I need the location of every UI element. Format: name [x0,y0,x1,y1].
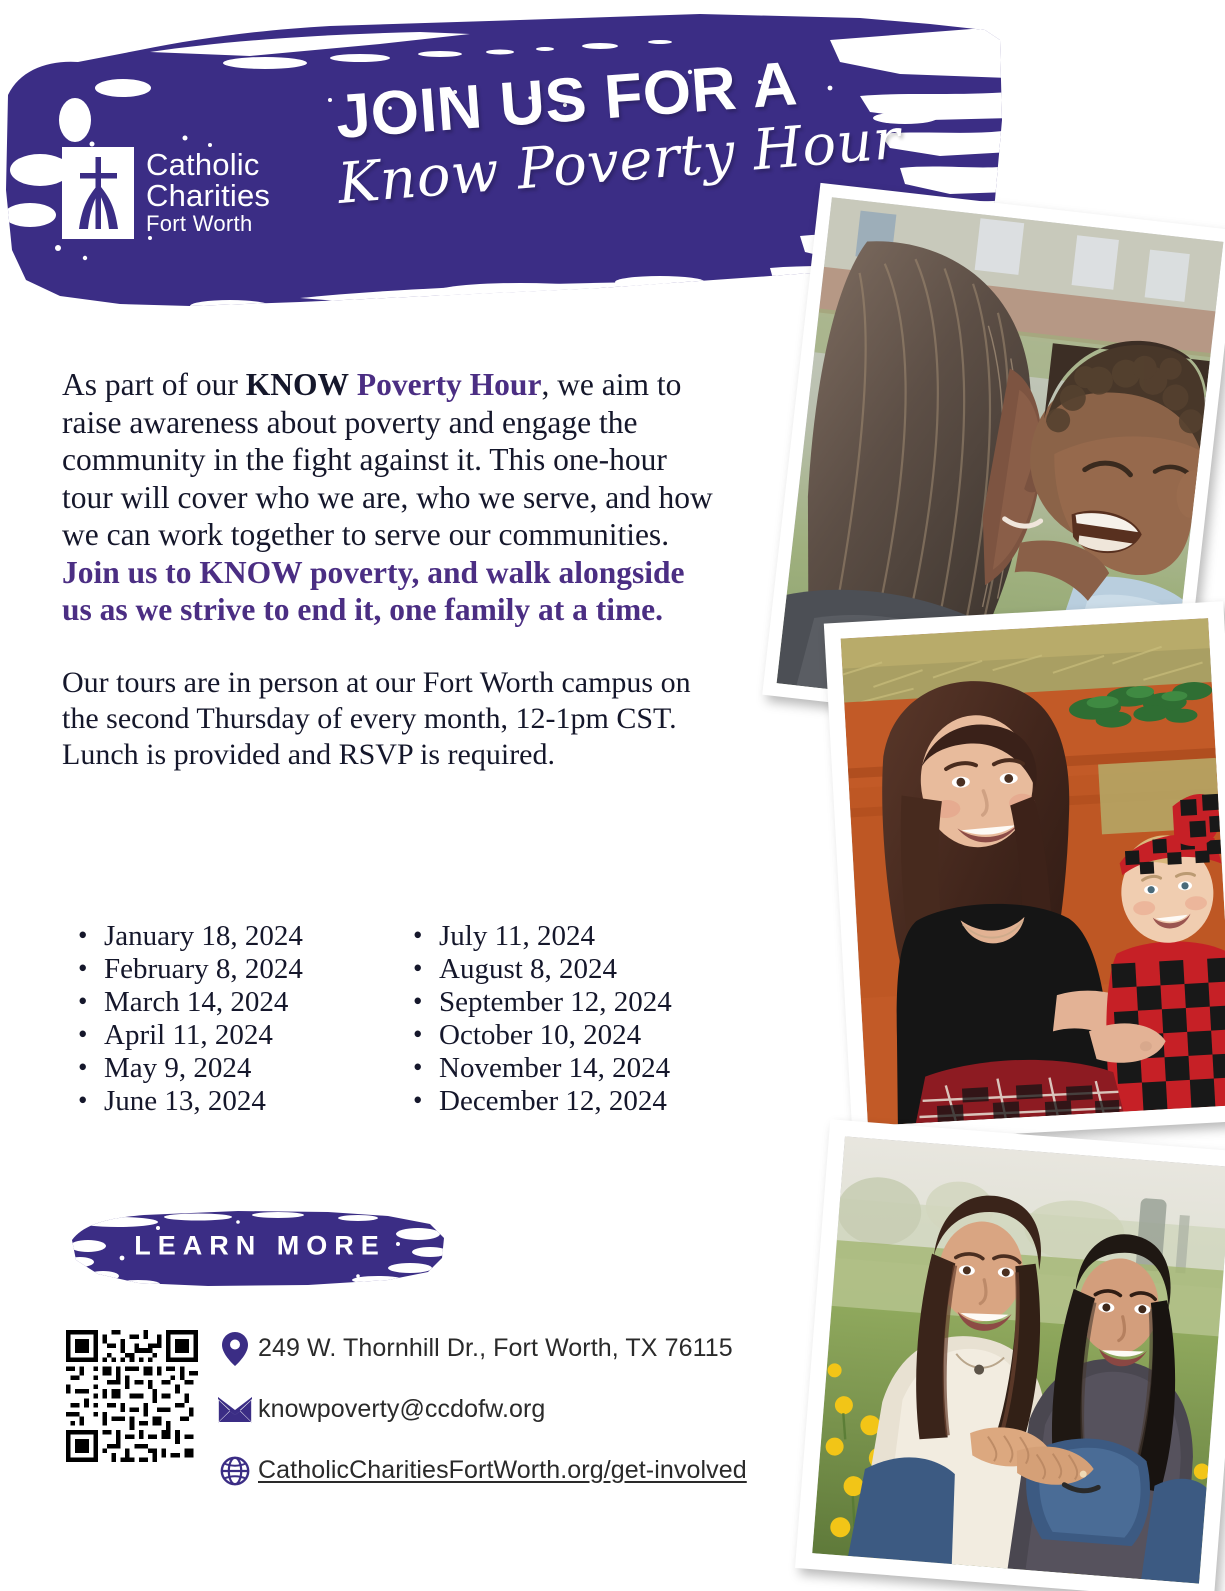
intro-call-to-action: Join us to KNOW poverty, and walk alongs… [62,555,685,628]
qr-code[interactable] [66,1330,198,1462]
learn-more-label: LEARN MORE [58,1231,458,1262]
list-item: March 14, 2024 [100,986,403,1019]
list-item: August 8, 2024 [435,953,738,986]
photo-mother-and-toddler-image [841,618,1225,1126]
intro-poverty-hour: Poverty Hour [357,367,542,402]
intro-know-bold: KNOW [246,367,349,402]
location-pin-icon [212,1332,258,1366]
intro-space [349,367,357,402]
learn-more-button[interactable]: LEARN MORE [58,1198,458,1294]
photo-mother-and-toddler [824,601,1225,1143]
list-item: July 11, 2024 [435,920,738,953]
contact-row-address: 249 W. Thornhill Dr., Fort Worth, TX 761… [212,1322,812,1375]
list-item: December 12, 2024 [435,1085,738,1118]
body-copy: As part of our KNOW Poverty Hour, we aim… [62,366,722,773]
globe-icon [212,1456,258,1486]
intro-seg-1: As part of our [62,367,246,402]
logo-line-1: Catholic [146,150,270,180]
logo-line-3: Fort Worth [146,213,270,235]
contact-info: 249 W. Thornhill Dr., Fort Worth, TX 761… [212,1322,812,1505]
envelope-icon [212,1397,258,1423]
cross-and-hands-icon [62,147,134,239]
logo-wordmark: Catholic Charities Fort Worth [146,150,270,234]
logo-line-2: Charities [146,181,270,211]
contact-row-website[interactable]: CatholicCharitiesFortWorth.org/get-invol… [212,1444,812,1497]
list-item: February 8, 2024 [100,953,403,986]
address-text: 249 W. Thornhill Dr., Fort Worth, TX 761… [258,1334,733,1363]
flyer-page: Catholic Charities Fort Worth JOIN US FO… [0,0,1225,1591]
list-item: May 9, 2024 [100,1052,403,1085]
website-link[interactable]: CatholicCharitiesFortWorth.org/get-invol… [258,1456,747,1485]
list-item: January 18, 2024 [100,920,403,953]
dates-list-right: July 11, 2024 August 8, 2024 September 1… [403,920,738,1118]
dates-column-left: January 18, 2024 February 8, 2024 March … [68,920,403,1118]
contact-row-email[interactable]: knowpoverty@ccdofw.org [212,1383,812,1436]
tour-dates: January 18, 2024 February 8, 2024 March … [68,920,738,1118]
paragraph-intro: As part of our KNOW Poverty Hour, we aim… [62,366,722,629]
list-item: April 11, 2024 [100,1019,403,1052]
catholic-charities-logo: Catholic Charities Fort Worth [62,140,317,245]
list-item: September 12, 2024 [435,986,738,1019]
email-text[interactable]: knowpoverty@ccdofw.org [258,1395,545,1424]
dates-column-right: July 11, 2024 August 8, 2024 September 1… [403,920,738,1118]
list-item: October 10, 2024 [435,1019,738,1052]
list-item: June 13, 2024 [100,1085,403,1118]
paragraph-logistics: Our tours are in person at our Fort Wort… [62,665,722,773]
dates-list-left: January 18, 2024 February 8, 2024 March … [68,920,403,1118]
list-item: November 14, 2024 [435,1052,738,1085]
photo-two-young-women-image [812,1136,1225,1583]
photo-two-young-women [795,1119,1225,1591]
